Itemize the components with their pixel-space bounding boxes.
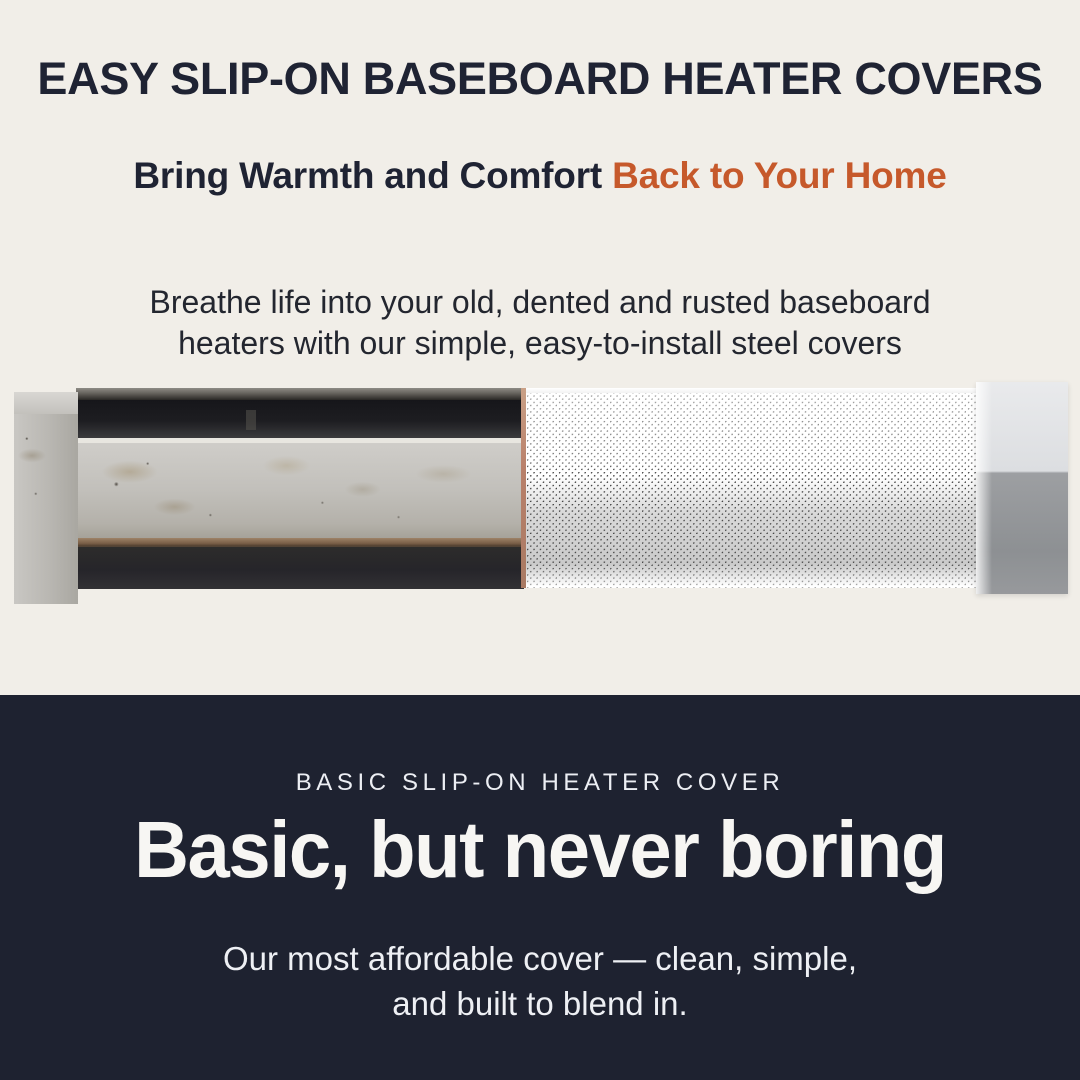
subheadline-primary-text: Bring Warmth and Comfort bbox=[133, 155, 612, 196]
new-cover-unit bbox=[526, 388, 1074, 590]
perforated-panel-shading bbox=[526, 388, 976, 588]
perforated-panel-top-edge bbox=[526, 388, 976, 393]
feature-dark-section: BASIC SLIP-ON HEATER COVER Basic, but ne… bbox=[0, 695, 1080, 1080]
old-heater-unit bbox=[14, 388, 524, 588]
old-heater-rust-streak bbox=[76, 538, 524, 547]
hero-subheadline: Bring Warmth and Comfort Back to Your Ho… bbox=[0, 150, 1080, 202]
section-headline: Basic, but never boring bbox=[27, 802, 1053, 898]
old-heater-end-cap-top bbox=[14, 392, 78, 414]
section-description-line-1: Our most affordable cover — clean, simpl… bbox=[223, 940, 857, 977]
subheadline-accent-text: Back to Your Home bbox=[612, 155, 946, 196]
promo-page: EASY SLIP-ON BASEBOARD HEATER COVERS Bri… bbox=[0, 0, 1080, 1080]
section-description-line-2: and built to blend in. bbox=[392, 985, 687, 1022]
hero-description: Breathe life into your old, dented and r… bbox=[70, 282, 1010, 364]
old-heater-top-lip bbox=[76, 388, 524, 400]
hero-description-line-1: Breathe life into your old, dented and r… bbox=[150, 284, 931, 320]
page-title: EASY SLIP-ON BASEBOARD HEATER COVERS bbox=[0, 52, 1080, 106]
hero-light-section: EASY SLIP-ON BASEBOARD HEATER COVERS Bri… bbox=[0, 0, 1080, 695]
old-heater-air-slot bbox=[76, 400, 524, 438]
hero-description-line-2: heaters with our simple, easy-to-install… bbox=[178, 325, 902, 361]
new-cover-end-cap-highlight bbox=[976, 382, 992, 594]
section-eyebrow-label: BASIC SLIP-ON HEATER COVER bbox=[0, 769, 1080, 797]
old-heater-base bbox=[76, 547, 524, 589]
old-heater-rusted-face bbox=[76, 443, 524, 546]
section-description: Our most affordable cover — clean, simpl… bbox=[140, 936, 940, 1026]
old-heater-end-cap bbox=[14, 392, 78, 604]
product-photo bbox=[0, 372, 1080, 634]
